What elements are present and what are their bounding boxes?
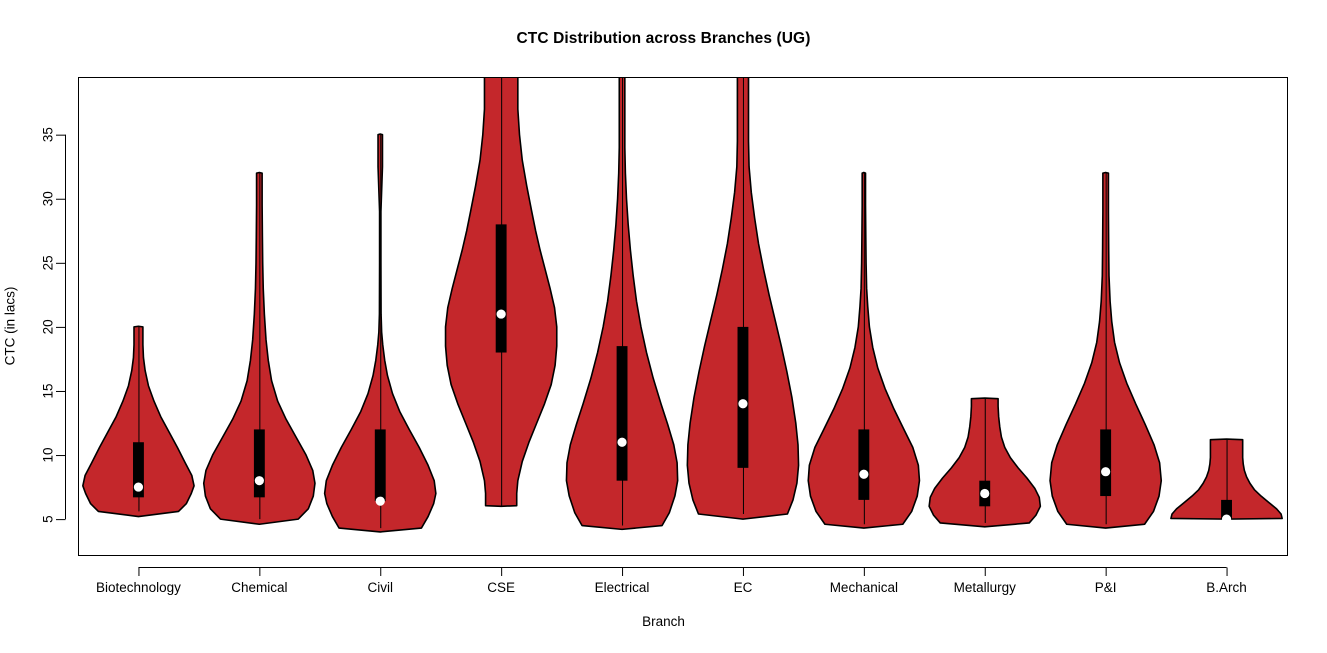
violin-civil — [325, 134, 436, 532]
median-marker — [497, 309, 506, 318]
y-tick-label: 30 — [41, 191, 56, 206]
iqr-box — [1100, 429, 1111, 496]
violin-chemical — [204, 172, 315, 524]
bottom-clip-mask — [0, 556, 1327, 653]
y-tick-label: 25 — [41, 255, 56, 270]
violin-cse — [446, 77, 557, 506]
median-marker — [980, 489, 989, 498]
median-marker — [1222, 515, 1231, 524]
plot-canvas: 5101520253035BiotechnologyChemicalCivilC… — [0, 0, 1327, 653]
violin-b-arch — [1171, 439, 1282, 524]
x-tick-label: Biotechnology — [96, 580, 181, 595]
x-tick-label: Electrical — [595, 580, 650, 595]
y-tick-label: 5 — [41, 515, 56, 523]
violin-metallurgy — [929, 398, 1040, 527]
y-axis-label: CTC (in lacs) — [3, 287, 18, 366]
y-tick-label: 20 — [41, 319, 56, 334]
x-tick-label: Mechanical — [830, 580, 898, 595]
x-tick-label: Metallurgy — [954, 580, 1017, 595]
y-tick-label: 10 — [41, 448, 56, 463]
violin-p-i — [1050, 172, 1161, 528]
iqr-box — [254, 429, 265, 497]
y-tick-label: 15 — [41, 383, 56, 398]
violin-mechanical — [808, 172, 919, 528]
median-marker — [617, 438, 626, 447]
violin-electrical — [566, 77, 677, 529]
violin-ec — [687, 77, 798, 519]
x-tick-label: EC — [734, 580, 753, 595]
x-tick-label: Civil — [368, 580, 394, 595]
x-axis-label: Branch — [0, 614, 1327, 629]
x-tick-label: CSE — [487, 580, 515, 595]
median-marker — [859, 470, 868, 479]
iqr-box — [375, 429, 386, 501]
median-marker — [376, 497, 385, 506]
y-axis: 5101520253035 — [41, 127, 66, 523]
iqr-box — [858, 429, 869, 499]
median-marker — [255, 476, 264, 485]
violin-chart: CTC Distribution across Branches (UG) CT… — [0, 0, 1327, 653]
iqr-box — [496, 224, 507, 352]
iqr-box — [738, 327, 749, 468]
y-tick-label: 35 — [41, 127, 56, 142]
violin-biotechnology — [83, 326, 194, 516]
x-tick-label: P&I — [1095, 580, 1117, 595]
x-tick-label: B.Arch — [1206, 580, 1247, 595]
median-marker — [738, 399, 747, 408]
median-marker — [1101, 467, 1110, 476]
page-title: CTC Distribution across Branches (UG) — [0, 30, 1327, 48]
x-tick-label: Chemical — [231, 580, 287, 595]
iqr-box — [617, 346, 628, 481]
median-marker — [134, 482, 143, 491]
